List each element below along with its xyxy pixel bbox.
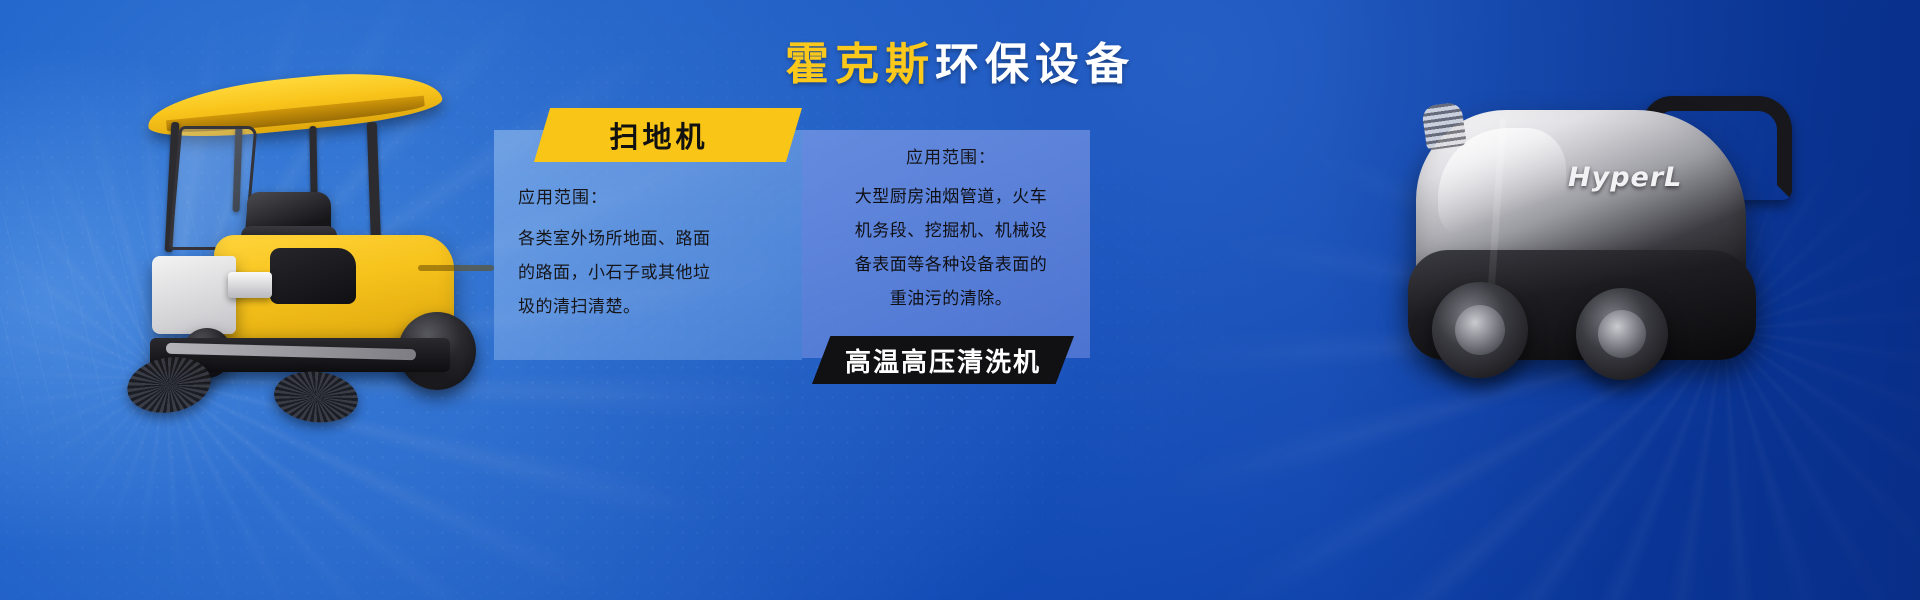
info-text-sweeper: 应用范围： 各类室外场所地面、路面 的路面，小石子或其他垃 圾的清扫清楚。 — [518, 182, 780, 324]
info-line: 各类室外场所地面、路面 — [518, 222, 780, 256]
product-image-pressure-washer: HyperL — [1380, 70, 1800, 410]
washer-wheel — [1576, 288, 1668, 380]
info-heading-sweeper: 应用范围： — [518, 182, 780, 214]
washer-wheel — [1432, 282, 1528, 378]
sweeper-post — [309, 126, 317, 196]
product-tag-sweeper-label: 扫地机 — [609, 114, 708, 156]
washer-vent-grille — [1421, 101, 1467, 150]
sweeper-side-panel — [270, 248, 356, 304]
title-rest: 环保设备 — [935, 39, 1135, 90]
product-tag-washer-label: 高温高压清洗机 — [845, 342, 1041, 379]
washer-brand-label: HyperL — [1568, 162, 1682, 193]
title-highlight: 霍克斯 — [785, 39, 935, 90]
sweeper-headlamp — [228, 272, 272, 298]
info-heading-washer: 应用范围： — [826, 142, 1076, 174]
product-tag-washer[interactable]: 高温高压清洗机 — [812, 336, 1074, 384]
info-line: 机务段、挖掘机、机械设 — [826, 214, 1076, 248]
product-image-sweeper — [122, 60, 512, 410]
info-line: 圾的清扫清楚。 — [518, 290, 780, 324]
sweeper-front-housing — [152, 256, 236, 334]
info-line: 重油污的清除。 — [826, 282, 1076, 316]
info-line: 大型厨房油烟管道，火车 — [826, 180, 1076, 214]
product-tag-sweeper[interactable]: 扫地机 — [534, 108, 802, 162]
sweeper-post — [367, 122, 381, 250]
info-line: 的路面，小石子或其他垃 — [518, 256, 780, 290]
info-text-washer: 应用范围： 大型厨房油烟管道，火车 机务段、挖掘机、机械设 备表面等各种设备表面… — [826, 142, 1076, 316]
info-line: 备表面等各种设备表面的 — [826, 248, 1076, 282]
promo-banner: 霍克斯环保设备 HyperL 扫地机 应用范围： — [0, 0, 1920, 600]
